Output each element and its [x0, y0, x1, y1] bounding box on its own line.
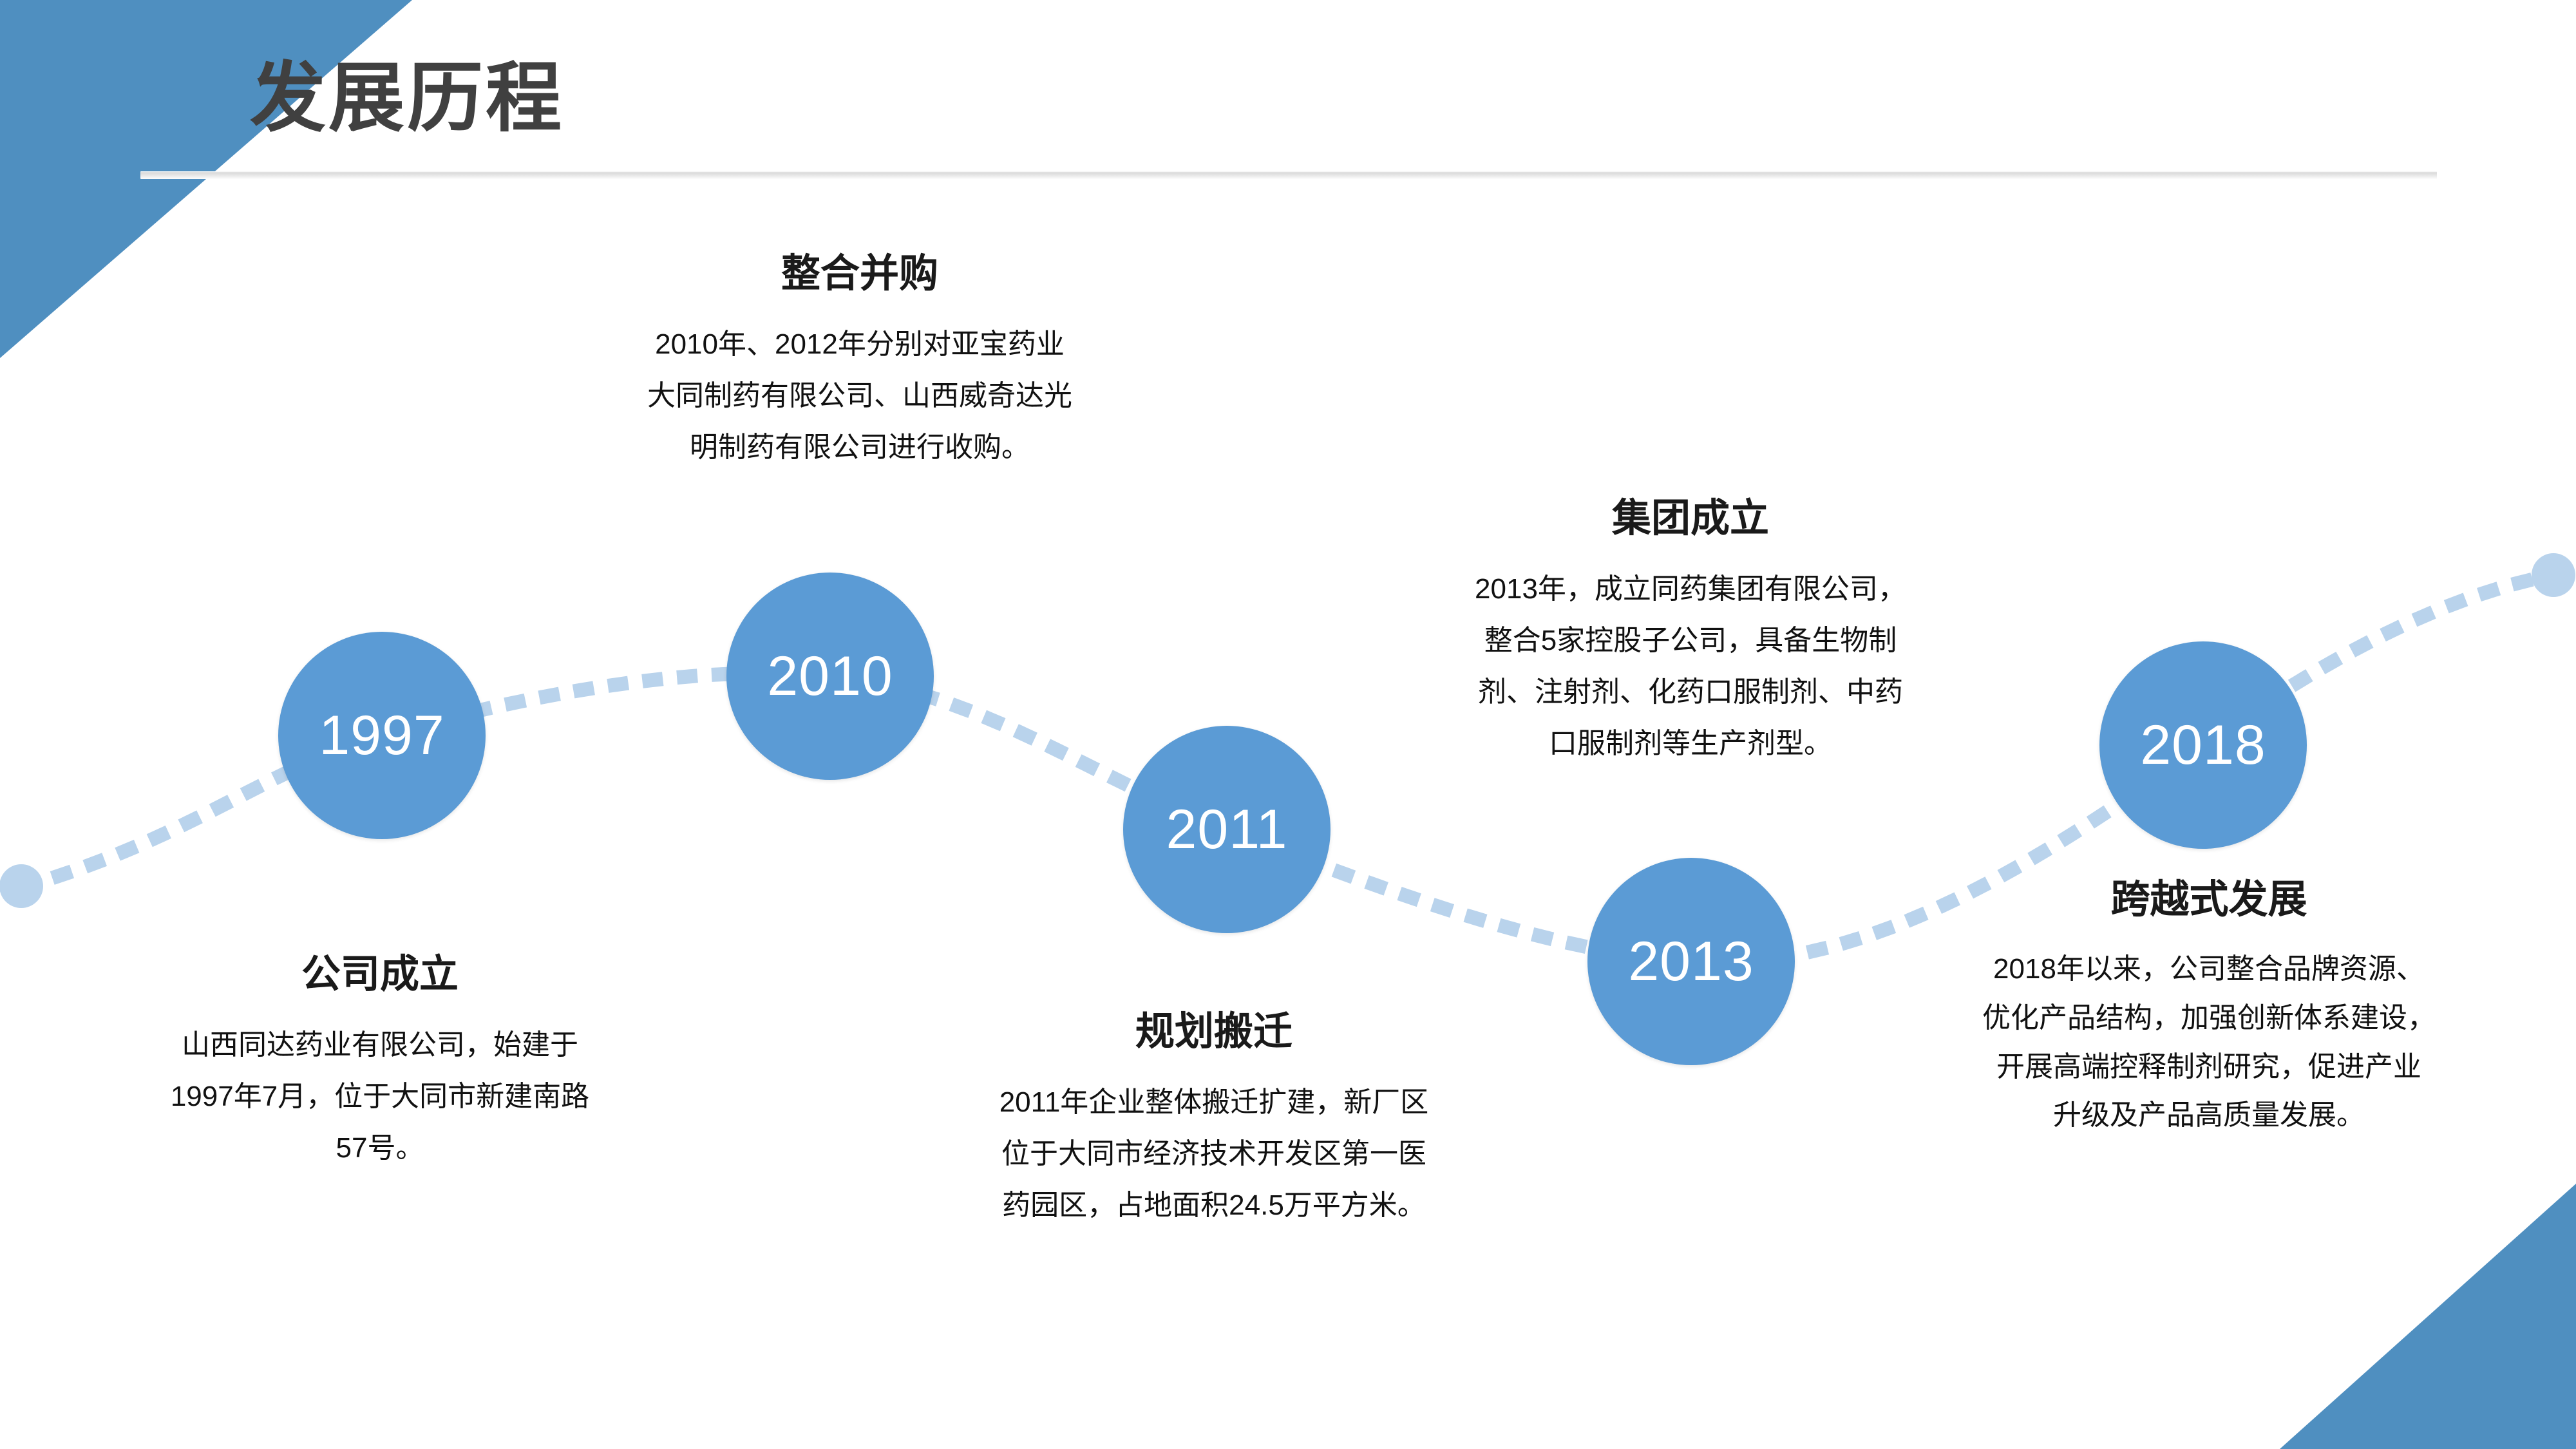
milestone-block-2010: 整合并购 2010年、2012年分别对亚宝药业大同制药有限公司、山西威奇达光明制…	[535, 250, 1185, 473]
timeline-node-2011[interactable]: 2011	[1123, 726, 1331, 933]
year-label: 2011	[1166, 798, 1288, 862]
milestone-body: 2018年以来，公司整合品牌资源、优化产品结构，加强创新体系建设，开展高端控释制…	[1884, 945, 2534, 1140]
milestone-body-line: 升级及产品高质量发展。	[1884, 1091, 2534, 1140]
milestone-block-2011: 规划搬迁 2011年企业整体搬迁扩建，新厂区位于大同市经济技术开发区第一医药园区…	[889, 1008, 1539, 1231]
milestone-body-line: 57号。	[58, 1122, 702, 1174]
milestone-body-line: 口服制剂等生产剂型。	[1365, 718, 2016, 770]
milestone-body-line: 2018年以来，公司整合品牌资源、	[1884, 945, 2534, 994]
milestone-heading: 集团成立	[1365, 495, 2016, 542]
year-label: 2010	[767, 645, 893, 708]
milestone-body: 2013年，成立同药集团有限公司，整合5家控股子公司，具备生物制剂、注射剂、化药…	[1365, 563, 2016, 770]
year-label: 2018	[2140, 714, 2266, 777]
milestone-body-line: 大同制药有限公司、山西威奇达光	[535, 370, 1185, 422]
milestone-body-line: 优化产品结构，加强创新体系建设，	[1884, 994, 2534, 1043]
milestone-body-line: 1997年7月，位于大同市新建南路	[58, 1071, 702, 1122]
milestone-heading: 公司成立	[58, 951, 702, 998]
milestone-body-line: 2013年，成立同药集团有限公司，	[1365, 563, 2016, 615]
timeline-end-dot	[2532, 553, 2575, 597]
year-label: 1997	[319, 704, 444, 768]
milestone-body: 山西同达药业有限公司，始建于1997年7月，位于大同市新建南路57号。	[58, 1019, 702, 1174]
timeline-node-1997[interactable]: 1997	[278, 632, 486, 839]
milestone-body-line: 开展高端控释制剂研究，促进产业	[1884, 1043, 2534, 1092]
milestone-heading: 跨越式发展	[1884, 876, 2534, 923]
milestone-body-line: 2011年企业整体搬迁扩建，新厂区	[889, 1077, 1539, 1128]
milestone-body-line: 2010年、2012年分别对亚宝药业	[535, 319, 1185, 370]
milestone-body-line: 山西同达药业有限公司，始建于	[58, 1019, 702, 1071]
milestone-block-2013: 集团成立 2013年，成立同药集团有限公司，整合5家控股子公司，具备生物制剂、注…	[1365, 495, 2016, 770]
milestone-body-line: 明制药有限公司进行收购。	[535, 422, 1185, 473]
year-label: 2013	[1628, 930, 1754, 994]
slide-canvas: 发展历程 1997 2010 2011 2013 2018 整合并购 2010年…	[0, 0, 2576, 1449]
timeline-start-dot	[0, 864, 43, 908]
milestone-body-line: 剂、注射剂、化药口服制剂、中药	[1365, 667, 2016, 718]
milestone-body-line: 药园区，占地面积24.5万平方米。	[889, 1180, 1539, 1231]
milestone-block-2018: 跨越式发展 2018年以来，公司整合品牌资源、优化产品结构，加强创新体系建设，开…	[1884, 876, 2534, 1140]
milestone-body: 2010年、2012年分别对亚宝药业大同制药有限公司、山西威奇达光明制药有限公司…	[535, 319, 1185, 473]
milestone-body-line: 位于大同市经济技术开发区第一医	[889, 1128, 1539, 1180]
timeline-node-2018[interactable]: 2018	[2099, 641, 2307, 849]
milestone-body: 2011年企业整体搬迁扩建，新厂区位于大同市经济技术开发区第一医药园区，占地面积…	[889, 1077, 1539, 1231]
milestone-heading: 整合并购	[535, 250, 1185, 297]
milestone-block-1997: 公司成立 山西同达药业有限公司，始建于1997年7月，位于大同市新建南路57号。	[58, 951, 702, 1174]
milestone-body-line: 整合5家控股子公司，具备生物制	[1365, 615, 2016, 667]
timeline-node-2010[interactable]: 2010	[726, 573, 934, 780]
milestone-heading: 规划搬迁	[889, 1008, 1539, 1055]
timeline-node-2013[interactable]: 2013	[1587, 858, 1795, 1065]
